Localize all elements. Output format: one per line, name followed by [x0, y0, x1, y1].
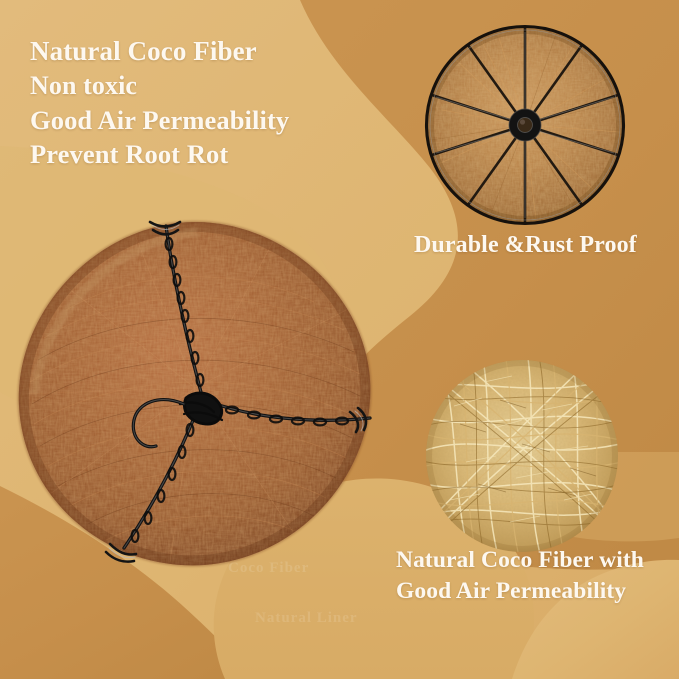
caption-durable-rust-proof: Durable &Rust Proof	[414, 230, 637, 261]
coco-basket-liner-illustration	[14, 218, 376, 570]
large-coco-basket-liner-photo	[14, 218, 376, 570]
headline-line-4: Prevent Root Rot	[30, 137, 289, 171]
headline-line-2: Non toxic	[30, 69, 289, 103]
caption-natural-coco-fiber: Natural Coco Fiber with Good Air Permeab…	[396, 545, 644, 606]
headline-line-1: Natural Coco Fiber	[30, 34, 289, 69]
caption-bottom-line-2: Good Air Permeability	[396, 576, 644, 607]
wire-frame-basket-photo	[424, 24, 626, 226]
loose-coco-fiber-photo	[424, 358, 620, 554]
caption-bottom-line-1: Natural Coco Fiber with	[396, 545, 644, 576]
wire-frame-basket-illustration	[424, 24, 626, 226]
loose-coco-fiber-illustration	[424, 358, 620, 554]
headline-block: Natural Coco Fiber Non toxic Good Air Pe…	[30, 34, 289, 172]
headline-line-3: Good Air Permeability	[30, 103, 289, 137]
product-feature-graphic: Coco Fiber Natural Liner	[0, 0, 679, 679]
